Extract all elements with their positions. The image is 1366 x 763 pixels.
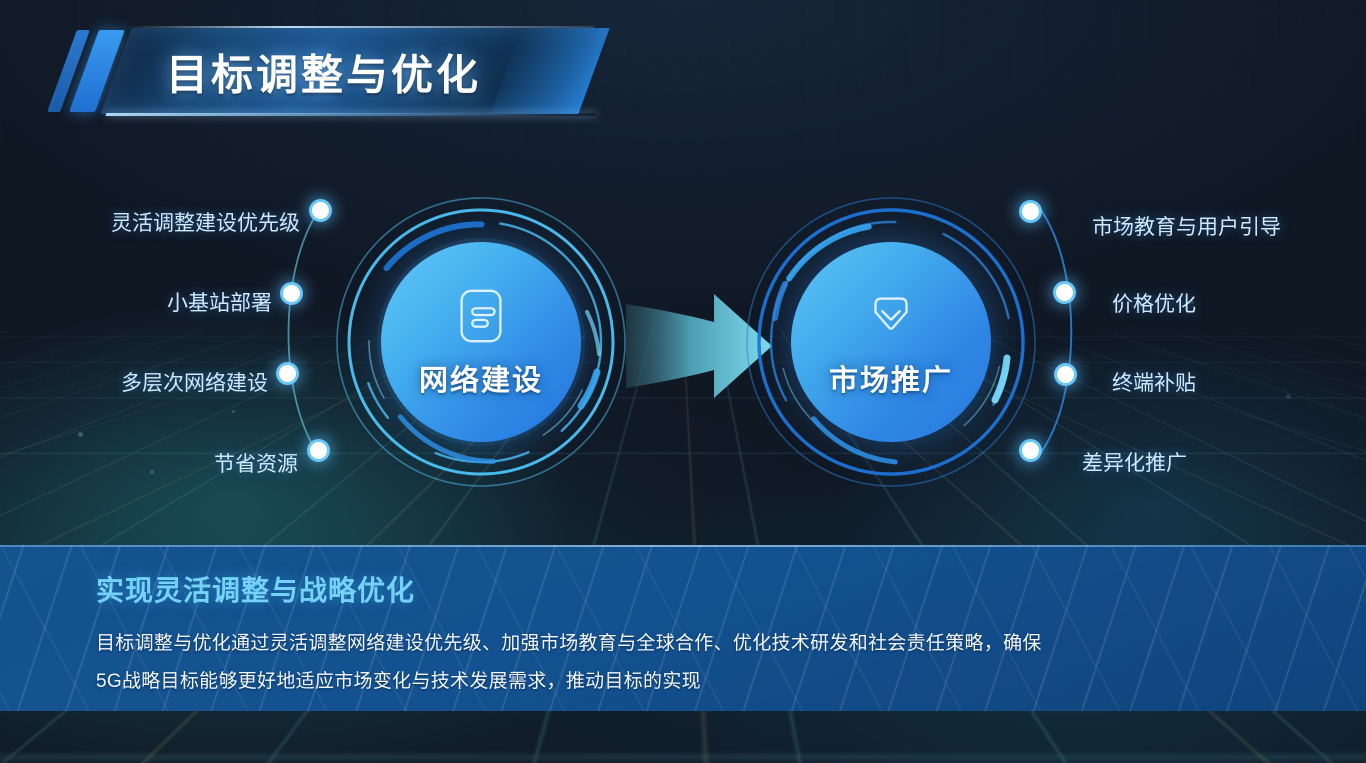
summary-body: 目标调整与优化通过灵活调整网络建设优先级、加强市场教育与全球合作、优化技术研发和… [96, 625, 1056, 701]
node-dot-left-3[interactable] [279, 365, 296, 382]
summary-panel-top-edge [0, 545, 1366, 547]
hub-core-left[interactable]: 网络建设 [381, 242, 581, 442]
hub-core-label-left: 网络建设 [419, 357, 543, 399]
hub-network-construction: 网络建设 [331, 192, 631, 492]
summary-content: 实现灵活调整与战略优化 目标调整与优化通过灵活调整网络建设优先级、加强市场教育与… [0, 545, 1366, 711]
node-label-right-2: 价格优化 [1112, 288, 1196, 318]
node-dot-left-4[interactable] [310, 442, 327, 459]
node-dot-right-3[interactable] [1057, 366, 1074, 383]
node-label-left-2: 小基站部署 [167, 287, 272, 317]
hub-core-right[interactable]: 市场推广 [791, 242, 991, 442]
background-speck [1286, 394, 1291, 399]
node-label-right-4: 差异化推广 [1082, 447, 1187, 477]
page-title: 目标调整与优化 [166, 42, 481, 103]
background-speck [78, 432, 83, 437]
node-dot-left-1[interactable] [312, 202, 329, 219]
document-list-icon [450, 285, 512, 347]
banner-top-highlight [124, 26, 595, 28]
summary-title: 实现灵活调整与战略优化 [96, 569, 1366, 609]
title-banner: 目标调整与优化 [38, 22, 598, 122]
summary-panel: 实现灵活调整与战略优化 目标调整与优化通过灵活调整网络建设优先级、加强市场教育与… [0, 545, 1366, 711]
node-dot-right-4[interactable] [1022, 442, 1039, 459]
node-label-left-4: 节省资源 [214, 448, 298, 478]
node-dot-right-2[interactable] [1056, 284, 1073, 301]
background-speck [232, 410, 235, 413]
hub-core-label-right: 市场推广 [829, 357, 953, 399]
node-dot-right-1[interactable] [1022, 203, 1039, 220]
node-label-left-1: 灵活调整建设优先级 [111, 207, 300, 237]
node-label-left-3: 多层次网络建设 [121, 367, 268, 397]
node-label-right-3: 终端补贴 [1112, 367, 1196, 397]
banner-bottom-highlight [105, 113, 596, 116]
background-speck [150, 470, 154, 474]
diamond-chevron-down-icon [860, 285, 922, 347]
node-label-right-1: 市场教育与用户引导 [1092, 211, 1281, 241]
slide-canvas: 目标调整与优化 [0, 0, 1366, 763]
node-dot-left-2[interactable] [283, 285, 300, 302]
